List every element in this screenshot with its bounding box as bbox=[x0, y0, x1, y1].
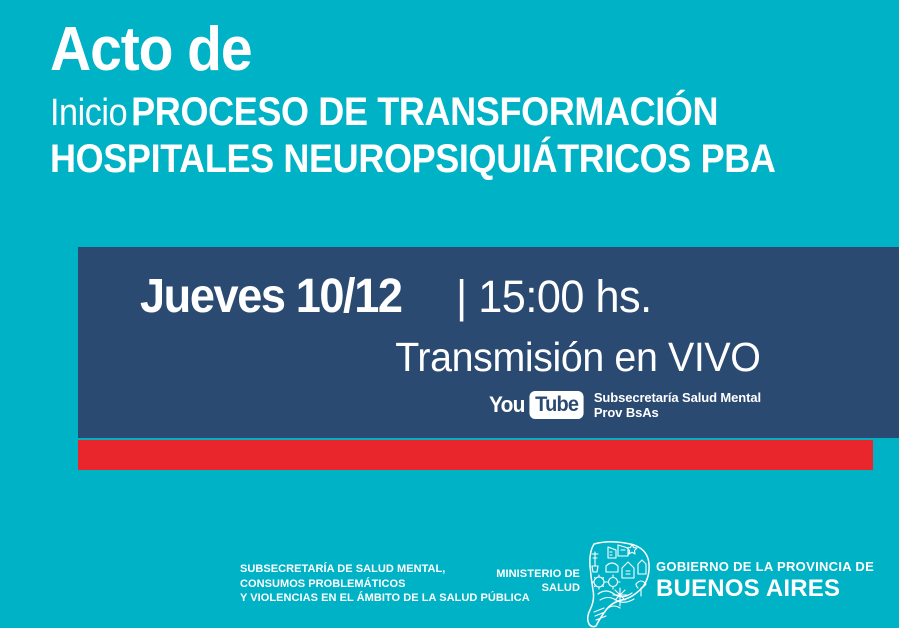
youtube-channel-line-1: Subsecretaría Salud Mental bbox=[594, 390, 761, 405]
event-details-panel: Jueves 10/12| 15:00 hs. Transmisión en V… bbox=[78, 247, 899, 438]
headline-line-3: HOSPITALES NEUROPSIQUIÁTRICOS PBA bbox=[50, 138, 797, 180]
headline-proceso: PROCESO DE TRANSFORMACIÓN bbox=[131, 90, 718, 134]
headline-acto-de: Acto de bbox=[50, 18, 814, 81]
footer: SUBSECRETARÍA DE SALUD MENTAL, CONSUMOS … bbox=[0, 540, 899, 628]
footer-gobierno-line-1: GOBIERNO DE LA PROVINCIA DE bbox=[656, 560, 874, 575]
youtube-logo-tube: Tube bbox=[530, 391, 585, 419]
date-time-row: Jueves 10/12| 15:00 hs. bbox=[140, 269, 660, 324]
event-date: Jueves 10/12 bbox=[140, 269, 402, 324]
headline-inicio: Inicio bbox=[50, 92, 127, 134]
red-accent-bar bbox=[78, 440, 873, 470]
footer-ministerio-line-1: MINISTERIO DE bbox=[470, 567, 580, 581]
event-poster: Acto de Inicio PROCESO DE TRANSFORMACIÓN… bbox=[0, 0, 899, 628]
footer-gobierno-line-2: BUENOS AIRES bbox=[656, 576, 874, 602]
headline-hospitales: HOSPITALES NEUROPSIQUIÁTRICOS PBA bbox=[50, 137, 776, 181]
footer-ministerio-block: MINISTERIO DE SALUD bbox=[470, 567, 580, 596]
footer-ministerio-line-2: SALUD bbox=[470, 581, 580, 595]
footer-gobierno-block: GOBIERNO DE LA PROVINCIA DE BUENOS AIRES bbox=[656, 560, 874, 602]
youtube-channel-row[interactable]: You Tube Subsecretaría Salud Mental Prov… bbox=[488, 390, 761, 421]
youtube-channel-name: Subsecretaría Salud Mental Prov BsAs bbox=[594, 390, 761, 421]
broadcast-label: Transmisión en VIVO bbox=[396, 334, 761, 381]
headline-block: Acto de Inicio PROCESO DE TRANSFORMACIÓN… bbox=[50, 18, 880, 180]
youtube-icon[interactable]: You Tube bbox=[488, 391, 586, 419]
buenos-aires-province-map-icon bbox=[582, 538, 654, 628]
headline-line-2: Inicio PROCESO DE TRANSFORMACIÓN bbox=[50, 91, 797, 133]
event-time: | 15:00 hs. bbox=[456, 271, 652, 323]
youtube-channel-line-2: Prov BsAs bbox=[594, 405, 761, 420]
youtube-logo-you: You bbox=[489, 394, 525, 416]
